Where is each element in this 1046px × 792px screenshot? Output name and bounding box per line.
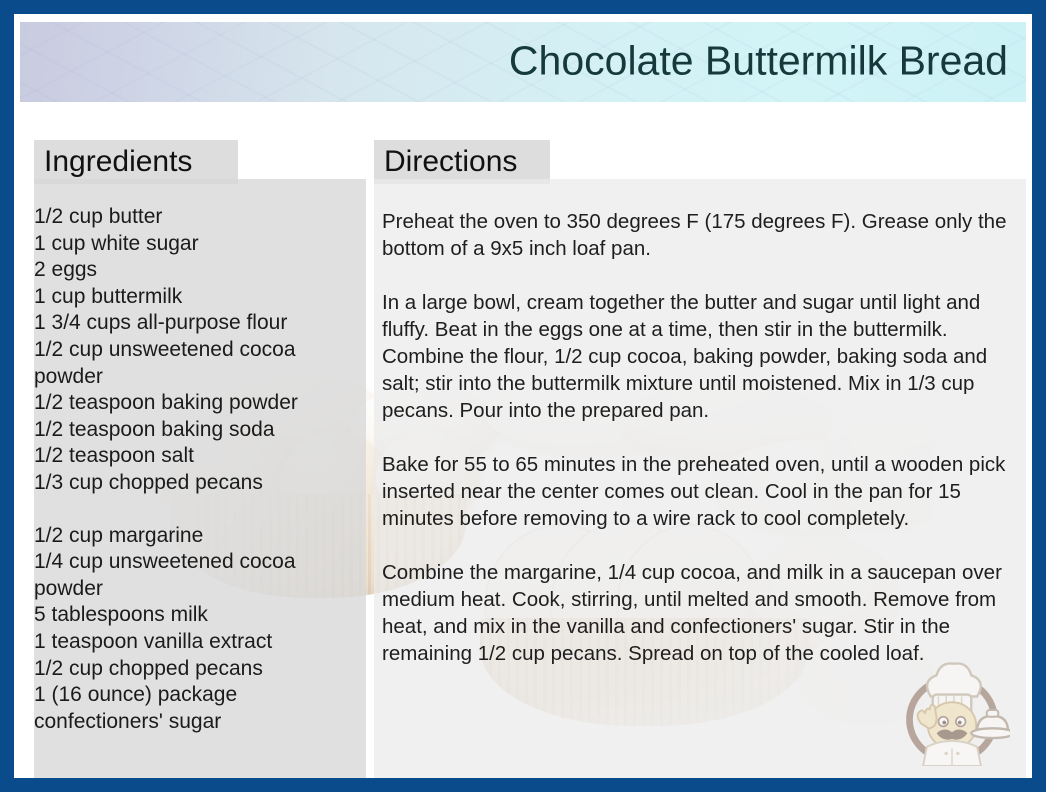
- ingredient-item: 1/2 teaspoon baking powder: [34, 390, 354, 417]
- title-banner: Chocolate Buttermilk Bread: [20, 22, 1026, 102]
- directions-heading: Directions: [374, 140, 550, 184]
- ingredient-item: 1/2 cup unsweetened cocoa powder: [34, 337, 354, 390]
- direction-paragraph: Combine the margarine, 1/4 cup cocoa, an…: [382, 559, 1020, 667]
- ingredient-item: 1 cup buttermilk: [34, 284, 354, 311]
- ingredient-item: 1/2 cup margarine: [34, 523, 354, 550]
- ingredient-item: 1/2 cup chopped pecans: [34, 656, 354, 683]
- ingredient-item: 1 (16 ounce) package confectioners' suga…: [34, 682, 354, 735]
- ingredient-item: 5 tablespoons milk: [34, 602, 354, 629]
- ingredient-item: 1/2 teaspoon baking soda: [34, 417, 354, 444]
- ingredient-item: 1/3 cup chopped pecans: [34, 470, 354, 497]
- ingredients-group-separator: [34, 497, 354, 523]
- direction-paragraph: Preheat the oven to 350 degrees F (175 d…: [382, 208, 1020, 262]
- ingredient-item: 1 teaspoon vanilla extract: [34, 629, 354, 656]
- ingredient-item: 1/2 cup butter: [34, 204, 354, 231]
- direction-paragraph: Bake for 55 to 65 minutes in the preheat…: [382, 451, 1020, 532]
- ingredients-heading: Ingredients: [34, 140, 238, 184]
- ingredient-item: 1/4 cup unsweetened cocoa powder: [34, 549, 354, 602]
- recipe-card: Chocolate Buttermilk Bread Ingredients 1…: [0, 0, 1046, 792]
- direction-paragraph: In a large bowl, cream together the butt…: [382, 289, 1020, 424]
- ingredient-item: 2 eggs: [34, 257, 354, 284]
- ingredient-item: 1/2 teaspoon salt: [34, 443, 354, 470]
- ingredient-item: 1 cup white sugar: [34, 231, 354, 258]
- page-title: Chocolate Buttermilk Bread: [509, 38, 1008, 85]
- ingredient-item: 1 3/4 cups all-purpose flour: [34, 310, 354, 337]
- ingredients-list: 1/2 cup butter1 cup white sugar2 eggs1 c…: [34, 204, 354, 735]
- directions-body: Preheat the oven to 350 degrees F (175 d…: [382, 208, 1020, 667]
